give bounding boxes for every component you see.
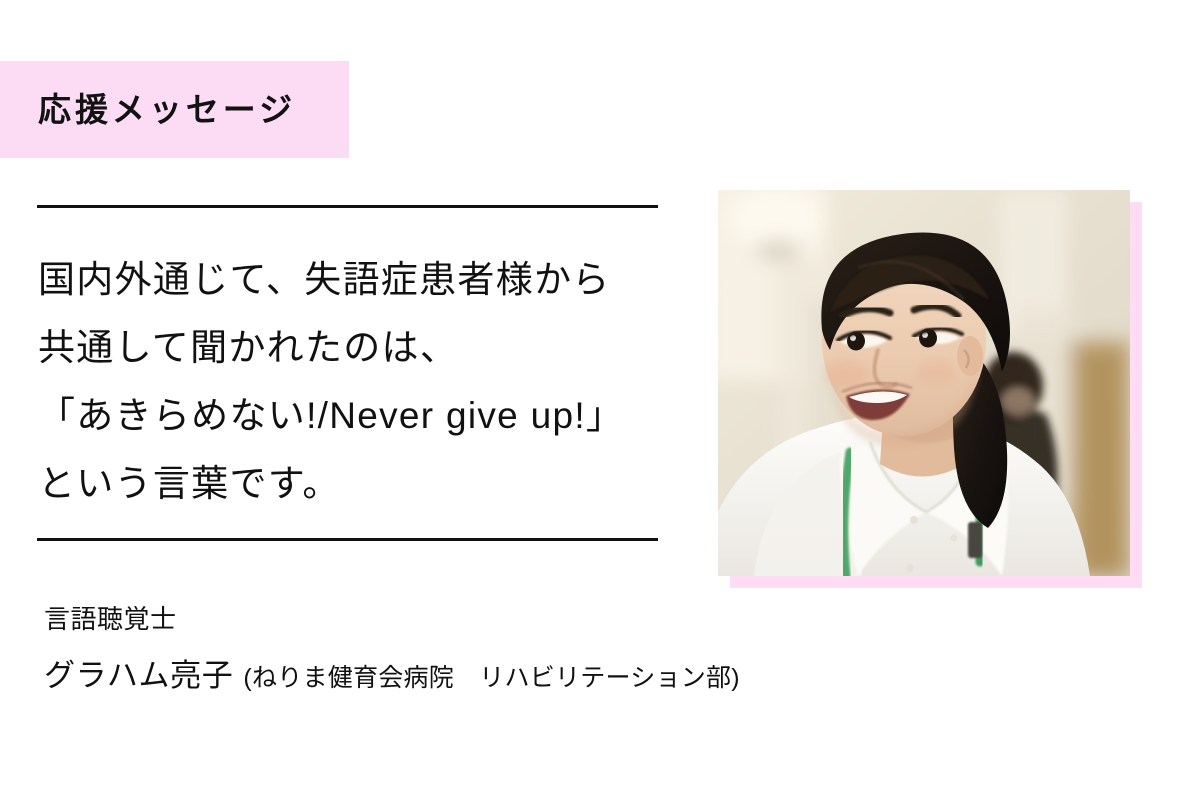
quote-line: 共通して聞かれたのは、	[38, 314, 658, 382]
attribution-role: 言語聴覚士	[44, 602, 984, 636]
portrait-photo-wrapper	[718, 190, 1130, 576]
section-badge: 応援メッセージ	[0, 61, 349, 158]
attribution-affiliation: (ねりま健育会病院 リハビリテーション部)	[243, 658, 739, 694]
quote-line: という言葉です。	[38, 450, 658, 518]
badge-label: 応援メッセージ	[38, 93, 296, 126]
message-card: 応援メッセージ 国内外通じて、失語症患者様から 共通して聞かれたのは、 「あきら…	[0, 0, 1200, 800]
quote-line: 国内外通じて、失語症患者様から	[38, 246, 658, 314]
portrait-photo	[718, 190, 1130, 576]
attribution-name-row: グラハム亮子 (ねりま健育会病院 リハビリテーション部)	[44, 650, 984, 695]
quote-line: 「あきらめない!/Never give up!」	[38, 382, 658, 450]
quote-text: 国内外通じて、失語症患者様から 共通して聞かれたのは、 「あきらめない!/Nev…	[37, 208, 658, 538]
attribution: 言語聴覚士 グラハム亮子 (ねりま健育会病院 リハビリテーション部)	[44, 602, 984, 695]
attribution-name: グラハム亮子	[44, 650, 233, 695]
quote-block: 国内外通じて、失語症患者様から 共通して聞かれたのは、 「あきらめない!/Nev…	[37, 205, 658, 541]
quote-rule-bottom	[37, 538, 658, 541]
